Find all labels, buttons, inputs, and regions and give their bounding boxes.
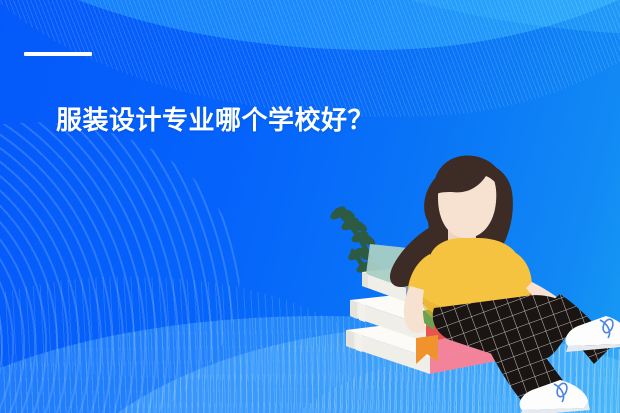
- promo-banner: 服装设计专业哪个学校好？: [0, 0, 620, 413]
- woman-figure: [390, 155, 620, 413]
- arm-left: [404, 286, 426, 333]
- hero-illustration: [310, 140, 620, 413]
- top-swoosh-shape: [0, 0, 620, 50]
- accent-rule: [24, 52, 92, 56]
- top-swoosh-shape-secondary: [150, 0, 620, 35]
- page-title: 服装设计专业哪个学校好？: [56, 103, 374, 137]
- bottom-left-arc-pattern: [0, 101, 256, 413]
